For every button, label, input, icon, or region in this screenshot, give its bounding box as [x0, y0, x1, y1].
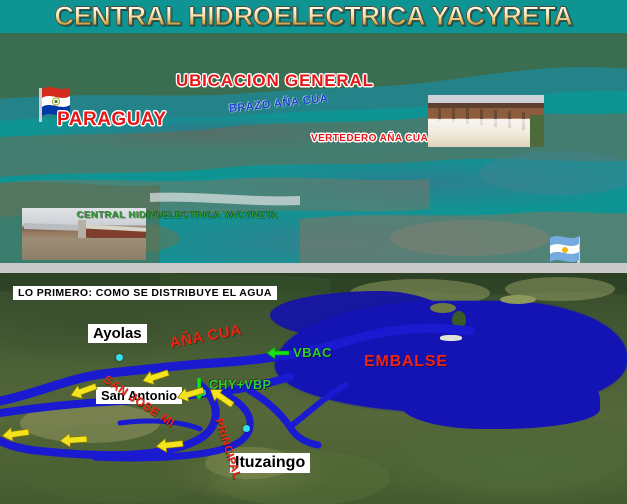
label-vertedero-ana-cua: VERTEDERO AÑA CUA: [311, 133, 428, 144]
bottom-water-distribution-map: LO PRIMERO: COMO SE DISTRIBUYE EL AGUA A…: [0, 273, 627, 504]
vbac-arrow-icon: [266, 346, 290, 365]
city-dot-ayolas: [116, 354, 123, 361]
flow-arrow-3: [175, 385, 205, 408]
slide-root: CENTRAL HIDROELECTRICA YACYRETA UBICACIO…: [0, 0, 627, 504]
bottom-map-caption: LO PRIMERO: COMO SE DISTRIBUYE EL AGUA: [13, 286, 277, 300]
place-label-ayolas: Ayolas: [88, 324, 147, 343]
flow-marker-label-vbac: VBAC: [293, 345, 332, 360]
flow-arrow-6: [154, 436, 184, 459]
flow-arrow-5: [58, 431, 88, 454]
city-dot-ituzaingo: [243, 425, 250, 432]
header-bar: CENTRAL HIDROELECTRICA YACYRETA: [0, 0, 627, 33]
country-label-paraguay: PARAGUAY: [57, 109, 167, 131]
label-central-hidroelectrica-yacyreta: CENTRAL HIDROELECTRICA YACYRETA: [77, 210, 278, 221]
flow-arrow-4: [206, 387, 236, 412]
panel-divider: [0, 263, 627, 273]
flow-arrow-7: [0, 425, 30, 448]
top-map-subtitle: UBICACION GENERAL: [176, 71, 374, 91]
flow-arrow-2: [140, 368, 170, 391]
place-label-ituzaingo: Ituzaingo: [230, 453, 310, 473]
argentina-flag: [548, 229, 594, 263]
flow-arrow-1: [68, 382, 98, 405]
top-location-map: UBICACION GENERAL PARAGUAY BRAZO AÑA CUA…: [0, 33, 627, 263]
ana-cua-spillway-photo: [428, 95, 544, 147]
page-title: CENTRAL HIDROELECTRICA YACYRETA: [0, 1, 627, 32]
water-body-label-embalse: EMBALSE: [364, 353, 448, 371]
